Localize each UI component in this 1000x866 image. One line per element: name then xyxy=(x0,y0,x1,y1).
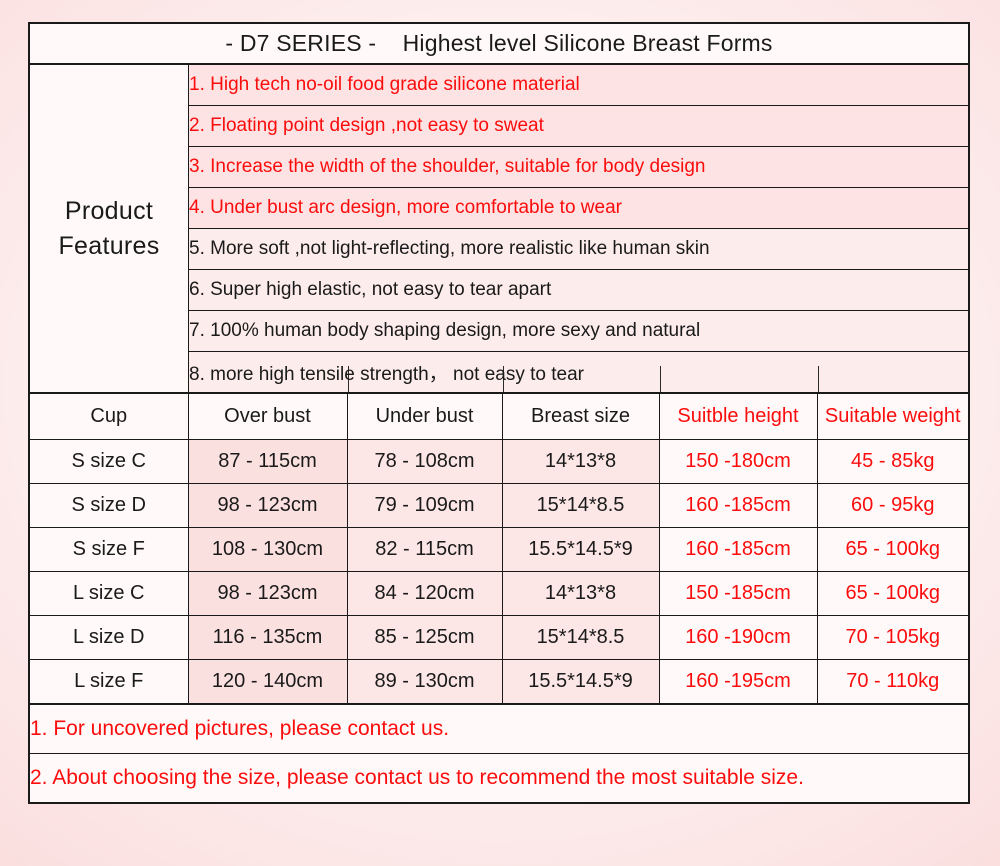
cell-over-bust: 120 - 140cm xyxy=(188,660,347,704)
cell-breast-size: 15*14*8.5 xyxy=(502,616,659,660)
cell-weight: 65 - 100kg xyxy=(817,572,968,616)
cell-weight: 65 - 100kg xyxy=(817,528,968,572)
table-row: L size C 98 - 123cm 84 - 120cm 14*13*8 1… xyxy=(30,572,968,616)
cell-under-bust: 82 - 115cm xyxy=(347,528,502,572)
size-table-body: S size C 87 - 115cm 78 - 108cm 14*13*8 1… xyxy=(30,440,968,704)
column-tick-mark xyxy=(503,366,504,392)
notes-table: 1. For uncovered pictures, please contac… xyxy=(30,704,968,802)
cell-height: 150 -185cm xyxy=(659,572,817,616)
note-2: 2. About choosing the size, please conta… xyxy=(30,754,968,803)
cell-breast-size: 14*13*8 xyxy=(502,572,659,616)
cell-cup: L size C xyxy=(30,572,188,616)
spec-sheet-page: - D7 SERIES - Highest level Silicone Bre… xyxy=(0,0,1000,866)
cell-cup: S size F xyxy=(30,528,188,572)
cell-over-bust: 116 - 135cm xyxy=(188,616,347,660)
cell-height: 160 -185cm xyxy=(659,484,817,528)
cell-height: 150 -180cm xyxy=(659,440,817,484)
cell-breast-size: 15.5*14.5*9 xyxy=(502,660,659,704)
cell-height: 160 -185cm xyxy=(659,528,817,572)
title-row: - D7 SERIES - Highest level Silicone Bre… xyxy=(30,24,968,64)
column-tick-mark xyxy=(348,366,349,392)
table-row: S size C 87 - 115cm 78 - 108cm 14*13*8 1… xyxy=(30,440,968,484)
cell-over-bust: 98 - 123cm xyxy=(188,484,347,528)
cell-cup: L size D xyxy=(30,616,188,660)
cell-height: 160 -195cm xyxy=(659,660,817,704)
size-table-head: Cup Over bust Under bust Breast size Sui… xyxy=(30,394,968,440)
title-table: - D7 SERIES - Highest level Silicone Bre… xyxy=(30,24,968,64)
cell-breast-size: 15.5*14.5*9 xyxy=(502,528,659,572)
cell-cup: L size F xyxy=(30,660,188,704)
cell-over-bust: 98 - 123cm xyxy=(188,572,347,616)
title-cell: - D7 SERIES - Highest level Silicone Bre… xyxy=(30,24,968,64)
product-features-label: Product Features xyxy=(30,65,189,393)
note-row: 2. About choosing the size, please conta… xyxy=(30,754,968,803)
cell-under-bust: 84 - 120cm xyxy=(347,572,502,616)
feature-row: Product Features 1. High tech no-oil foo… xyxy=(30,65,968,106)
spec-sheet: - D7 SERIES - Highest level Silicone Bre… xyxy=(28,22,970,804)
table-row: L size D 116 - 135cm 85 - 125cm 15*14*8.… xyxy=(30,616,968,660)
cell-over-bust: 87 - 115cm xyxy=(188,440,347,484)
feature-item-8-text: 8. more high tensile strength， not easy … xyxy=(189,364,584,385)
feature-item-4: 4. Under bust arc design, more comfortab… xyxy=(189,188,969,229)
feature-item-2: 2. Floating point design ,not easy to sw… xyxy=(189,106,969,147)
cell-weight: 45 - 85kg xyxy=(817,440,968,484)
product-features-table: Product Features 1. High tech no-oil foo… xyxy=(30,64,968,393)
feature-item-6: 6. Super high elastic, not easy to tear … xyxy=(189,270,969,311)
note-row: 1. For uncovered pictures, please contac… xyxy=(30,705,968,754)
size-table: Cup Over bust Under bust Breast size Sui… xyxy=(30,393,968,704)
cell-cup: S size D xyxy=(30,484,188,528)
product-features-label-line1: Product xyxy=(65,197,153,225)
size-table-header-row: Cup Over bust Under bust Breast size Sui… xyxy=(30,394,968,440)
header-breast-size: Breast size xyxy=(502,394,659,440)
header-suitable-height: Suitble height xyxy=(659,394,817,440)
cell-breast-size: 15*14*8.5 xyxy=(502,484,659,528)
feature-item-8: 8. more high tensile strength， not easy … xyxy=(189,352,969,393)
feature-item-5: 5. More soft ,not light-reflecting, more… xyxy=(189,229,969,270)
note-1: 1. For uncovered pictures, please contac… xyxy=(30,705,968,754)
cell-under-bust: 89 - 130cm xyxy=(347,660,502,704)
product-features-label-line2: Features xyxy=(58,232,159,260)
header-over-bust: Over bust xyxy=(188,394,347,440)
cell-under-bust: 85 - 125cm xyxy=(347,616,502,660)
table-row: S size D 98 - 123cm 79 - 109cm 15*14*8.5… xyxy=(30,484,968,528)
cell-over-bust: 108 - 130cm xyxy=(188,528,347,572)
table-row: L size F 120 - 140cm 89 - 130cm 15.5*14.… xyxy=(30,660,968,704)
cell-breast-size: 14*13*8 xyxy=(502,440,659,484)
header-under-bust: Under bust xyxy=(347,394,502,440)
header-suitable-weight: Suitable weight xyxy=(817,394,968,440)
cell-weight: 70 - 110kg xyxy=(817,660,968,704)
feature-item-3: 3. Increase the width of the shoulder, s… xyxy=(189,147,969,188)
page-title: - D7 SERIES - Highest level Silicone Bre… xyxy=(225,30,772,56)
feature-item-1: 1. High tech no-oil food grade silicone … xyxy=(189,65,969,106)
cell-weight: 70 - 105kg xyxy=(817,616,968,660)
product-features-body: Product Features 1. High tech no-oil foo… xyxy=(30,65,968,393)
column-tick-mark xyxy=(660,366,661,392)
column-tick-mark xyxy=(818,366,819,392)
table-row: S size F 108 - 130cm 82 - 115cm 15.5*14.… xyxy=(30,528,968,572)
feature-item-7: 7. 100% human body shaping design, more … xyxy=(189,311,969,352)
cell-weight: 60 - 95kg xyxy=(817,484,968,528)
cell-under-bust: 79 - 109cm xyxy=(347,484,502,528)
header-cup: Cup xyxy=(30,394,188,440)
cell-cup: S size C xyxy=(30,440,188,484)
cell-height: 160 -190cm xyxy=(659,616,817,660)
cell-under-bust: 78 - 108cm xyxy=(347,440,502,484)
